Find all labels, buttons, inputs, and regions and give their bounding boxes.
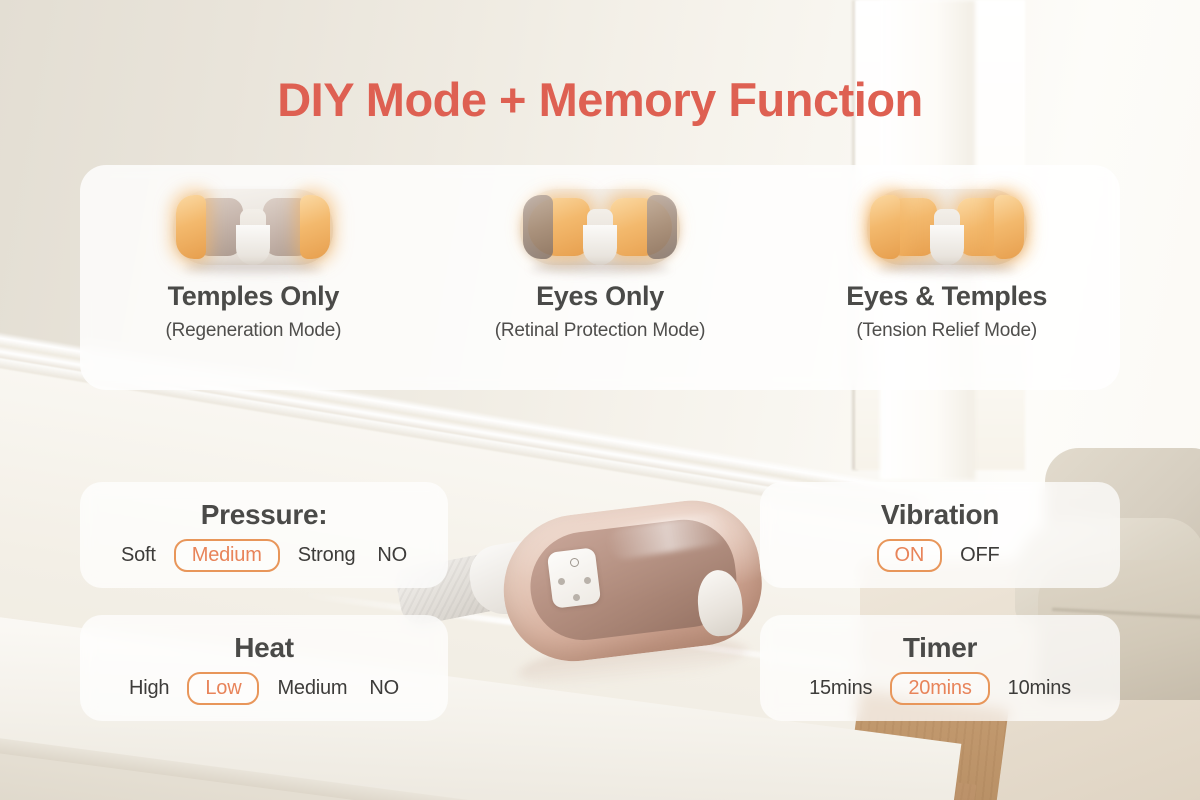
heat-option-no[interactable]: NO [365, 675, 403, 702]
pressure-options: Soft Medium Strong NO [117, 539, 411, 572]
eye-massager-product-photo [398, 498, 763, 673]
pressure-option-soft[interactable]: Soft [117, 542, 160, 569]
goggle-left-temple [870, 195, 900, 259]
goggle-left-temple [176, 195, 206, 259]
heat-options: High Low Medium NO [125, 672, 403, 705]
mode-item-eyes-and-temples: Eyes & Temples (Tension Relief Mode) [773, 165, 1120, 390]
setting-card-heat: Heat High Low Medium NO [80, 615, 448, 721]
vibration-option-on[interactable]: ON [877, 539, 943, 572]
goggle-temples-only-icon [173, 189, 333, 265]
pressure-option-strong[interactable]: Strong [294, 542, 360, 569]
goggle-nose [930, 225, 964, 265]
power-icon [570, 558, 579, 567]
heat-icon [584, 577, 591, 584]
goggle-shadow [183, 263, 323, 275]
timer-options: 15mins 20mins 10mins [805, 672, 1075, 705]
mode-title: Temples Only [168, 281, 339, 312]
goggle-right-temple [300, 195, 330, 259]
mode-item-eyes-only: Eyes Only (Retinal Protection Mode) [427, 165, 774, 390]
goggle-nose [236, 225, 270, 265]
mode-item-temples-only: Temples Only (Regeneration Mode) [80, 165, 427, 390]
timer-option-20mins[interactable]: 20mins [890, 672, 989, 705]
setting-card-pressure: Pressure: Soft Medium Strong NO [80, 482, 448, 588]
product-marketing-image: DIY Mode + Memory Function Temples Only … [0, 0, 1200, 800]
setting-card-timer: Timer 15mins 20mins 10mins [760, 615, 1120, 721]
goggle-right-temple [647, 195, 677, 259]
pressure-option-medium[interactable]: Medium [174, 539, 280, 572]
goggle-nose [583, 225, 617, 265]
heat-option-medium[interactable]: Medium [273, 675, 351, 702]
mode-card: Temples Only (Regeneration Mode) Eyes On… [80, 165, 1120, 390]
heat-option-high[interactable]: High [125, 675, 173, 702]
heat-label: Heat [234, 632, 294, 664]
page-title: DIY Mode + Memory Function [0, 72, 1200, 127]
vibration-option-off[interactable]: OFF [956, 542, 1003, 569]
pressure-option-no[interactable]: NO [373, 542, 411, 569]
goggle-eyes-only-icon [520, 189, 680, 265]
vibration-label: Vibration [881, 499, 999, 531]
goggle-shadow [877, 263, 1017, 275]
goggle-eyes-and-temples-icon [867, 189, 1027, 265]
pressure-label: Pressure: [201, 499, 328, 531]
heat-option-low[interactable]: Low [187, 672, 259, 705]
mode-icon [558, 578, 565, 585]
mode-subtitle: (Retinal Protection Mode) [495, 320, 705, 342]
mode-title: Eyes & Temples [846, 281, 1047, 312]
goggle-left-temple [523, 195, 553, 259]
timer-label: Timer [903, 632, 977, 664]
timer-option-10mins[interactable]: 10mins [1004, 675, 1075, 702]
setting-card-vibration: Vibration ON OFF [760, 482, 1120, 588]
mode-subtitle: (Regeneration Mode) [165, 320, 341, 342]
mode-title: Eyes Only [536, 281, 664, 312]
mode-subtitle: (Tension Relief Mode) [856, 320, 1037, 342]
timer-option-15mins[interactable]: 15mins [805, 675, 876, 702]
goggle-shadow [530, 263, 670, 275]
vibration-options: ON OFF [877, 539, 1004, 572]
goggle-right-temple [994, 195, 1024, 259]
vibration-icon [573, 594, 580, 601]
